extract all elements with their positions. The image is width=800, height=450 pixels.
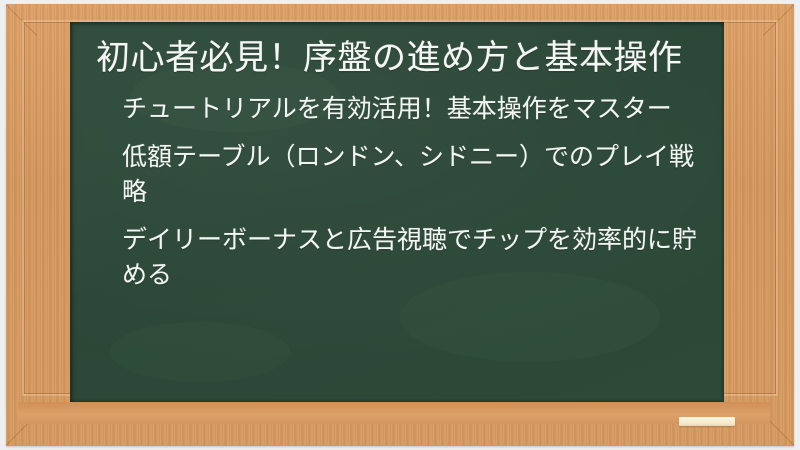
slide-bullet-item: チュートリアルを有効活用！基本操作をマスター (122, 92, 700, 128)
frame-mitre-bottom-left-icon (6, 414, 37, 446)
frame-mitre-bottom-right-icon (763, 414, 794, 446)
board-content: 初心者必見！序盤の進め方と基本操作 チュートリアルを有効活用！基本操作をマスター… (70, 22, 724, 402)
slide-bullet-item: デイリーボーナスと広告視聴でチップを効率的に貯める (122, 223, 700, 294)
frame-mitre-top-right-icon (763, 4, 794, 36)
chalkboard: 初心者必見！序盤の進め方と基本操作 チュートリアルを有効活用！基本操作をマスター… (70, 22, 724, 402)
frame-mitre-top-left-icon (6, 4, 37, 36)
slide-canvas: 初心者必見！序盤の進め方と基本操作 チュートリアルを有効活用！基本操作をマスター… (0, 0, 800, 450)
slide-bullet-item: 低額テーブル（ロンドン、シドニー）でのプレイ戦略 (122, 140, 700, 211)
slide-title: 初心者必見！序盤の進め方と基本操作 (96, 36, 700, 80)
chalk-stick-icon (679, 417, 735, 426)
slide-bullet-list: チュートリアルを有効活用！基本操作をマスター 低額テーブル（ロンドン、シドニー）… (96, 92, 700, 294)
